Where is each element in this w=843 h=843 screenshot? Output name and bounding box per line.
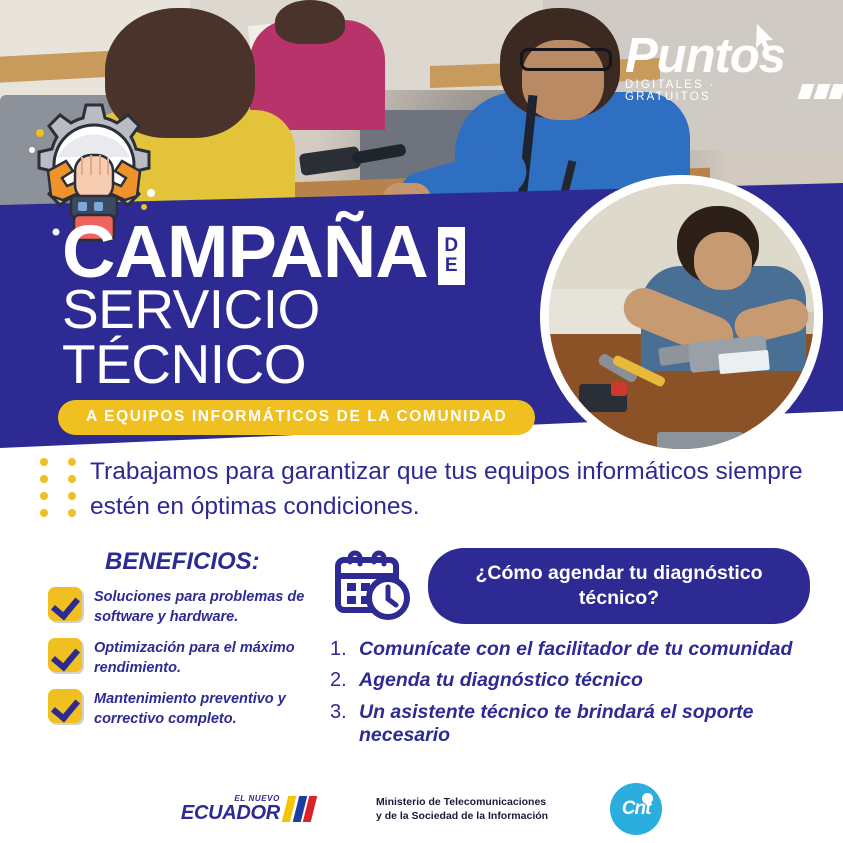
title-de-letter-1: D [444,236,458,256]
howto-question-pill: ¿Cómo agendar tu diagnóstico técnico? [428,548,810,624]
poster-root: Puntos DIGITALES · GRATUITOS [0,0,843,843]
step-label: Comunícate con el facilitador de tu comu… [359,638,792,661]
cnt-logo: Cnt [610,783,662,835]
puntos-logo: Puntos DIGITALES · GRATUITOS [625,32,843,103]
cursor-click-icon [753,23,779,53]
step-number: 2. [330,669,350,692]
howto-step: 1. Comunícate con el facilitador de tu c… [330,638,810,661]
benefits-title: BENEFICIOS: [105,548,328,576]
technician-circle-photo [540,175,823,458]
calendar-clock-icon [330,550,412,622]
title-line-campana: CAMPAÑA [62,218,428,286]
benefit-item: Optimización para el máximo rendimiento. [48,638,328,678]
cnt-logo-label: Cnt [622,798,651,820]
howto-section: ¿Cómo agendar tu diagnóstico técnico? 1.… [330,548,810,755]
ecuador-logo-title: ECUADOR [181,803,280,823]
logo-wordmark: Puntos [625,32,843,81]
footer-logos: EL NUEVO ECUADOR Ministerio de Telecomun… [0,775,843,843]
ecuador-flag-icon [282,796,317,822]
step-number: 3. [330,701,350,724]
step-label: Agenda tu diagnóstico técnico [359,669,643,692]
step-number: 1. [330,638,350,661]
hero-ribbon: A EQUIPOS INFORMÁTICOS DE LA COMUNIDAD [58,400,535,435]
title-de-letter-2: E [445,256,458,276]
ministry-line-2: y de la Sociedad de la Información [376,809,548,823]
benefit-label: Mantenimiento preventivo y correctivo co… [94,689,328,729]
title-de-box: D E [438,227,465,285]
check-box-icon [48,638,82,672]
step-label: Un asistente técnico te brindará el sopo… [359,701,810,748]
ministry-line-1: Ministerio de Telecomunicaciones [376,795,548,809]
benefit-label: Optimización para el máximo rendimiento. [94,638,328,678]
howto-step: 2. Agenda tu diagnóstico técnico [330,669,810,692]
benefit-item: Soluciones para problemas de software y … [48,587,328,627]
intro-paragraph: Trabajamos para garantizar que tus equip… [90,455,820,525]
dot-grid-decoration [40,458,82,517]
benefit-item: Mantenimiento preventivo y correctivo co… [48,689,328,729]
ministry-text: Ministerio de Telecomunicaciones y de la… [376,795,548,823]
check-box-icon [48,689,82,723]
benefit-label: Soluciones para problemas de software y … [94,587,328,627]
howto-steps: 1. Comunícate con el facilitador de tu c… [330,638,810,748]
logo-tagline: DIGITALES · GRATUITOS [625,79,792,103]
howto-step: 3. Un asistente técnico te brindará el s… [330,701,810,748]
ecuador-logo: EL NUEVO ECUADOR [181,795,314,823]
check-box-icon [48,587,82,621]
title-line-servicio: SERVICIO TÉCNICO [62,282,532,392]
benefits-section: BENEFICIOS: Soluciones para problemas de… [48,548,328,729]
